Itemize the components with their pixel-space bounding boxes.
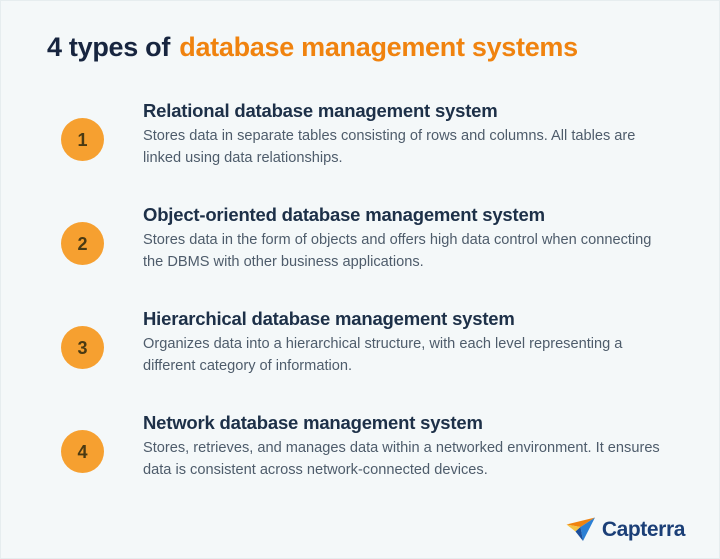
list-item: 3 Hierarchical database management syste… [1,307,720,411]
dbms-type-list: 1 Relational database management system … [1,99,720,515]
brand-footer: Capterra [566,516,685,542]
list-item: 1 Relational database management system … [1,99,720,203]
list-item-title: Network database management system [143,411,683,434]
list-item: 4 Network database management system Sto… [1,411,720,515]
page-title-accent: database management systems [179,32,578,62]
list-item-title: Object-oriented database management syst… [143,203,683,226]
list-item-number-badge: 2 [61,222,104,265]
list-item-title: Hierarchical database management system [143,307,683,330]
list-item-number-badge: 4 [61,430,104,473]
page-title: 4 types of database management systems [47,31,578,63]
page-title-lead: 4 types of [47,32,170,62]
list-item-description: Stores, retrieves, and manages data with… [143,438,671,481]
list-item: 2 Object-oriented database management sy… [1,203,720,307]
list-item-number-badge: 3 [61,326,104,369]
list-item-description: Organizes data into a hierarchical struc… [143,334,671,377]
list-item-description: Stores data in the form of objects and o… [143,230,671,273]
list-item-title: Relational database management system [143,99,683,122]
brand-wordmark: Capterra [602,519,685,540]
infographic-card: 4 types of database management systems 1… [0,0,720,559]
list-item-description: Stores data in separate tables consistin… [143,126,671,169]
capterra-paper-plane-icon [566,516,596,542]
list-item-number-badge: 1 [61,118,104,161]
